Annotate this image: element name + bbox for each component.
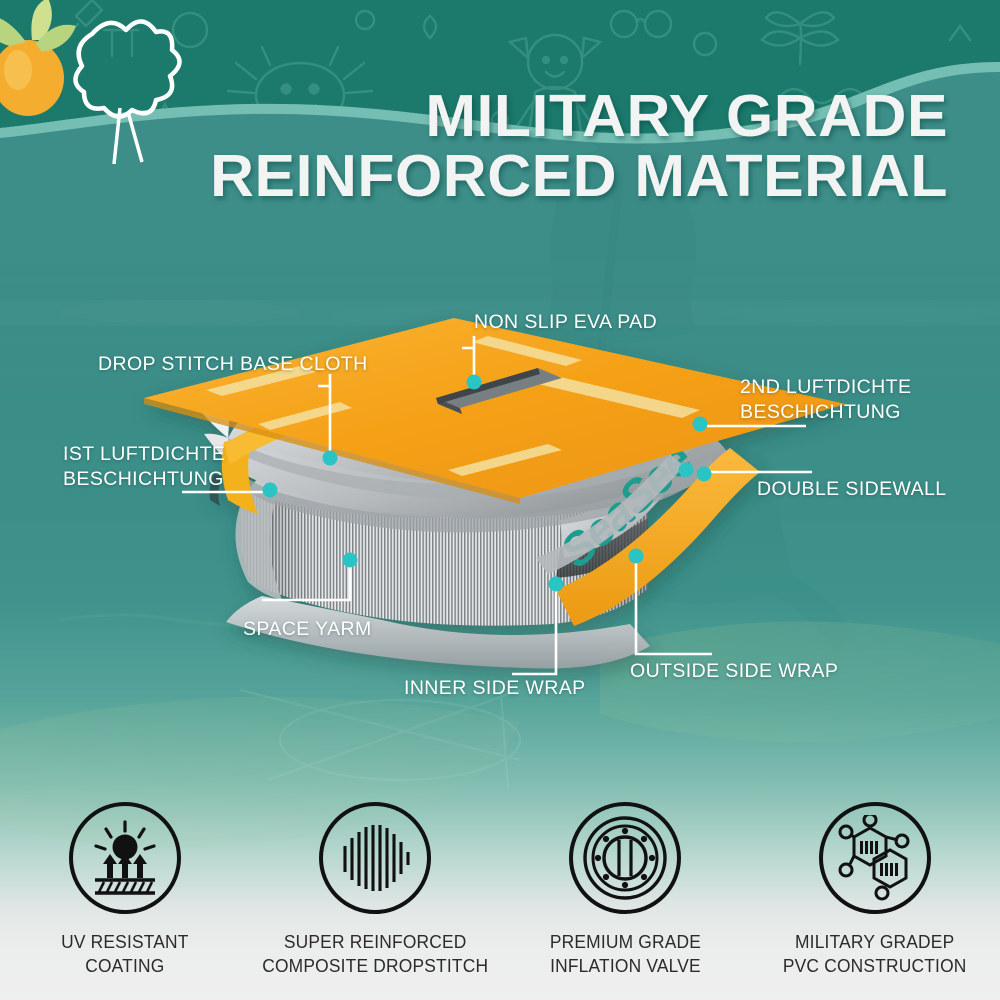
feature-premium-inflation-valve: PREMIUM GRADE INFLATION VALVE <box>500 802 750 978</box>
feature-caption: MILITARY GRADEP PVC CONSTRUCTION <box>783 930 967 978</box>
feature-caption: SUPER REINFORCED COMPOSITE DROPSTITCH <box>262 930 488 978</box>
molecule-hexagon-icon <box>832 815 918 901</box>
title-line-1: MILITARY GRADE <box>206 86 948 146</box>
inflation-valve-icon <box>581 814 669 902</box>
feature-icon-ring <box>819 802 931 914</box>
feature-icon-ring <box>319 802 431 914</box>
page-title: MILITARY GRADE REINFORCED MATERIAL <box>228 86 948 206</box>
callout-space-yarm: SPACE YARM <box>243 617 372 642</box>
title-line-2: REINFORCED MATERIAL <box>206 146 948 206</box>
feature-caption: UV RESISTANT COATING <box>61 930 189 978</box>
dropstitch-fibers-icon <box>333 816 417 900</box>
feature-icon-ring <box>69 802 181 914</box>
callout-2nd-luftdichte: 2ND LUFTDICHTE BESCHICHTUNG <box>740 375 911 425</box>
feature-icon-ring <box>569 802 681 914</box>
callout-drop-stitch-base-cloth: DROP STITCH BASE CLOTH <box>98 352 368 377</box>
feature-military-grade-pvc: MILITARY GRADEP PVC CONSTRUCTION <box>750 802 1000 978</box>
feature-super-reinforced-dropstitch: SUPER REINFORCED COMPOSITE DROPSTITCH <box>250 802 500 978</box>
feature-caption: PREMIUM GRADE INFLATION VALVE <box>549 930 700 978</box>
feature-row: UV RESISTANT COATING <box>0 802 1000 978</box>
callout-non-slip-eva-pad: NON SLIP EVA PAD <box>474 310 657 335</box>
callout-double-sidewall: DOUBLE SIDEWALL <box>757 477 947 502</box>
infographic-poster: MILITARY GRADE REINFORCED MATERIAL <box>0 0 1000 1000</box>
callout-ist-luftdichte: IST LUFTDICHTE BESCHICHTUNG <box>63 442 225 492</box>
feature-uv-resistant-coating: UV RESISTANT COATING <box>0 802 250 978</box>
callout-outside-side-wrap: OUTSIDE SIDE WRAP <box>630 659 838 684</box>
sun-arrows-layer-icon <box>83 816 167 900</box>
callout-inner-side-wrap: INNER SIDE WRAP <box>404 676 586 701</box>
